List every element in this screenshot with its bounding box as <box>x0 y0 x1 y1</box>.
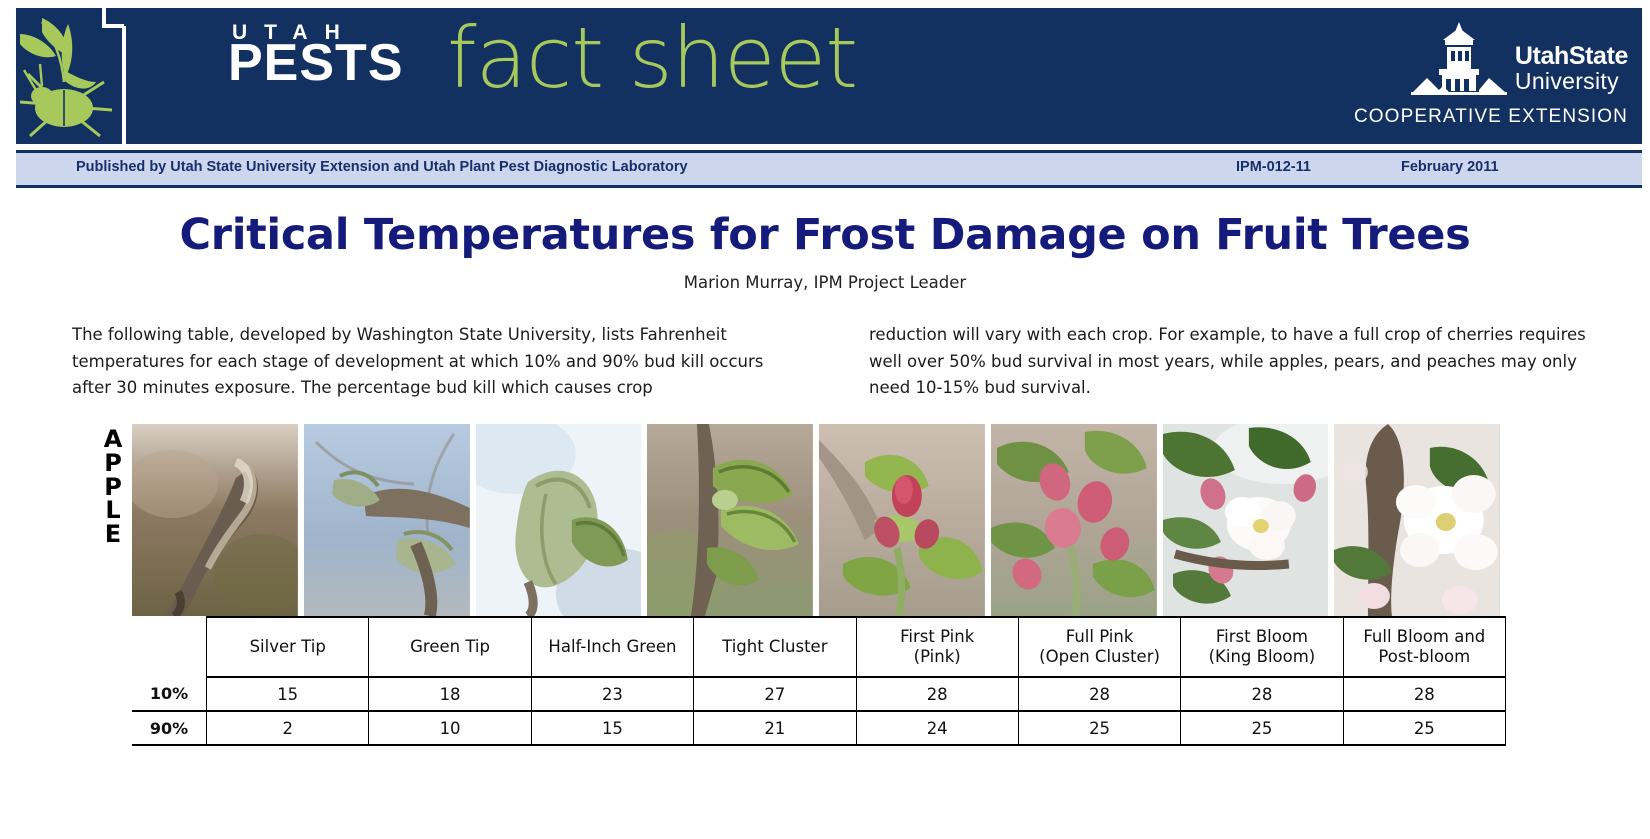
stage-label-line1: First Bloom <box>1182 627 1341 648</box>
row-label-90-percent: 90% <box>132 711 207 745</box>
usu-name-line1: UtahState <box>1515 42 1628 70</box>
stage-header-tight-cluster: Tight Cluster <box>694 617 856 677</box>
page-header-banner: UTAH PESTS fact sheet <box>0 0 1650 150</box>
bud-stage-photo-full-pink <box>991 424 1157 616</box>
utah-pests-wordmark: UTAH PESTS <box>228 22 404 89</box>
stage-header-first-bloom: First Bloom (King Bloom) <box>1181 617 1343 677</box>
crop-letter-4: E <box>96 523 130 547</box>
table-header-row: Silver Tip Green Tip Half-Inch Green Tig… <box>132 617 1506 677</box>
stage-header-half-inch-green: Half-Inch Green <box>531 617 693 677</box>
temp-90-first-pink: 24 <box>856 711 1018 745</box>
publication-date: February 2011 <box>1401 159 1499 175</box>
temp-10-green-tip: 18 <box>369 677 531 711</box>
table-row-90-percent: 90% 2 10 15 21 24 25 25 25 <box>132 711 1506 745</box>
temp-90-first-bloom: 25 <box>1181 711 1343 745</box>
temp-10-first-bloom: 28 <box>1181 677 1343 711</box>
stage-label-line1: Tight Cluster <box>695 637 854 658</box>
temp-10-silver-tip: 15 <box>207 677 369 711</box>
apple-crop-section: A P P L E <box>0 424 1650 746</box>
bud-stage-photo-first-bloom <box>1163 424 1329 616</box>
temp-90-full-bloom: 25 <box>1343 711 1505 745</box>
stage-header-full-pink: Full Pink (Open Cluster) <box>1018 617 1180 677</box>
temp-10-first-pink: 28 <box>856 677 1018 711</box>
temp-90-green-tip: 10 <box>369 711 531 745</box>
author-byline: Marion Murray, IPM Project Leader <box>0 273 1650 292</box>
row-label-10-percent: 10% <box>132 677 207 711</box>
stage-header-green-tip: Green Tip <box>369 617 531 677</box>
temp-90-tight-cluster: 21 <box>694 711 856 745</box>
critical-temperature-table: Silver Tip Green Tip Half-Inch Green Tig… <box>132 616 1506 746</box>
usu-name-line2: University <box>1515 68 1619 94</box>
temp-10-half-inch-green: 23 <box>531 677 693 711</box>
publisher-text: Published by Utah State University Exten… <box>76 159 688 175</box>
header-corner-cell <box>132 617 207 677</box>
intro-text-columns: The following table, developed by Washin… <box>72 322 1590 402</box>
intro-paragraph-right: reduction will vary with each crop. For … <box>869 322 1590 402</box>
brand-pests-text: PESTS <box>228 37 404 89</box>
stage-label-line2: (Pink) <box>858 647 1017 668</box>
publication-info-bar: Published by Utah State University Exten… <box>16 150 1642 188</box>
temp-10-tight-cluster: 27 <box>694 677 856 711</box>
document-code: IPM-012-11 <box>1236 159 1311 175</box>
stage-label-line2: (Open Cluster) <box>1020 647 1179 668</box>
stage-header-first-pink: First Pink (Pink) <box>856 617 1018 677</box>
temp-90-full-pink: 25 <box>1018 711 1180 745</box>
temp-90-silver-tip: 2 <box>207 711 369 745</box>
temp-90-half-inch-green: 15 <box>531 711 693 745</box>
stage-label-line1: Half-Inch Green <box>533 637 692 658</box>
temp-10-full-pink: 28 <box>1018 677 1180 711</box>
fact-sheet-title-text: fact sheet <box>447 10 857 107</box>
stage-label-line1: Green Tip <box>370 637 529 658</box>
bud-stage-photo-tight-cluster <box>647 424 813 616</box>
stage-header-full-bloom: Full Bloom and Post-bloom <box>1343 617 1505 677</box>
stage-header-silver-tip: Silver Tip <box>207 617 369 677</box>
stage-label-line1: First Pink <box>858 627 1017 648</box>
temp-10-full-bloom: 28 <box>1343 677 1505 711</box>
stage-label-line2: Post-bloom <box>1345 647 1504 668</box>
stage-label-line2: (King Bloom) <box>1182 647 1341 668</box>
utah-state-university-logo: UtahState University <box>1409 18 1628 103</box>
bud-stage-photo-strip <box>132 424 1500 616</box>
intro-paragraph-left: The following table, developed by Washin… <box>72 322 793 402</box>
old-main-tower-icon <box>1409 20 1509 103</box>
stage-label-line1: Silver Tip <box>208 637 367 658</box>
crop-name-vertical-label: A P P L E <box>96 428 130 547</box>
bud-stage-photo-half-inch-green <box>476 424 642 616</box>
usu-name-block: UtahState University <box>1515 18 1628 94</box>
stage-label-line1: Full Pink <box>1020 627 1179 648</box>
stage-label-line1: Full Bloom and <box>1345 627 1504 648</box>
bud-stage-photo-green-tip <box>304 424 470 616</box>
table-row-10-percent: 10% 15 18 23 27 28 28 28 28 <box>132 677 1506 711</box>
page-title: Critical Temperatures for Frost Damage o… <box>0 210 1650 260</box>
bud-stage-photo-full-bloom <box>1334 424 1500 616</box>
cooperative-extension-text: COOPERATIVE EXTENSION <box>1354 106 1628 128</box>
utah-pests-beetle-logo <box>12 4 132 146</box>
bud-stage-photo-silver-tip <box>132 424 298 616</box>
bud-stage-photo-first-pink <box>819 424 985 616</box>
